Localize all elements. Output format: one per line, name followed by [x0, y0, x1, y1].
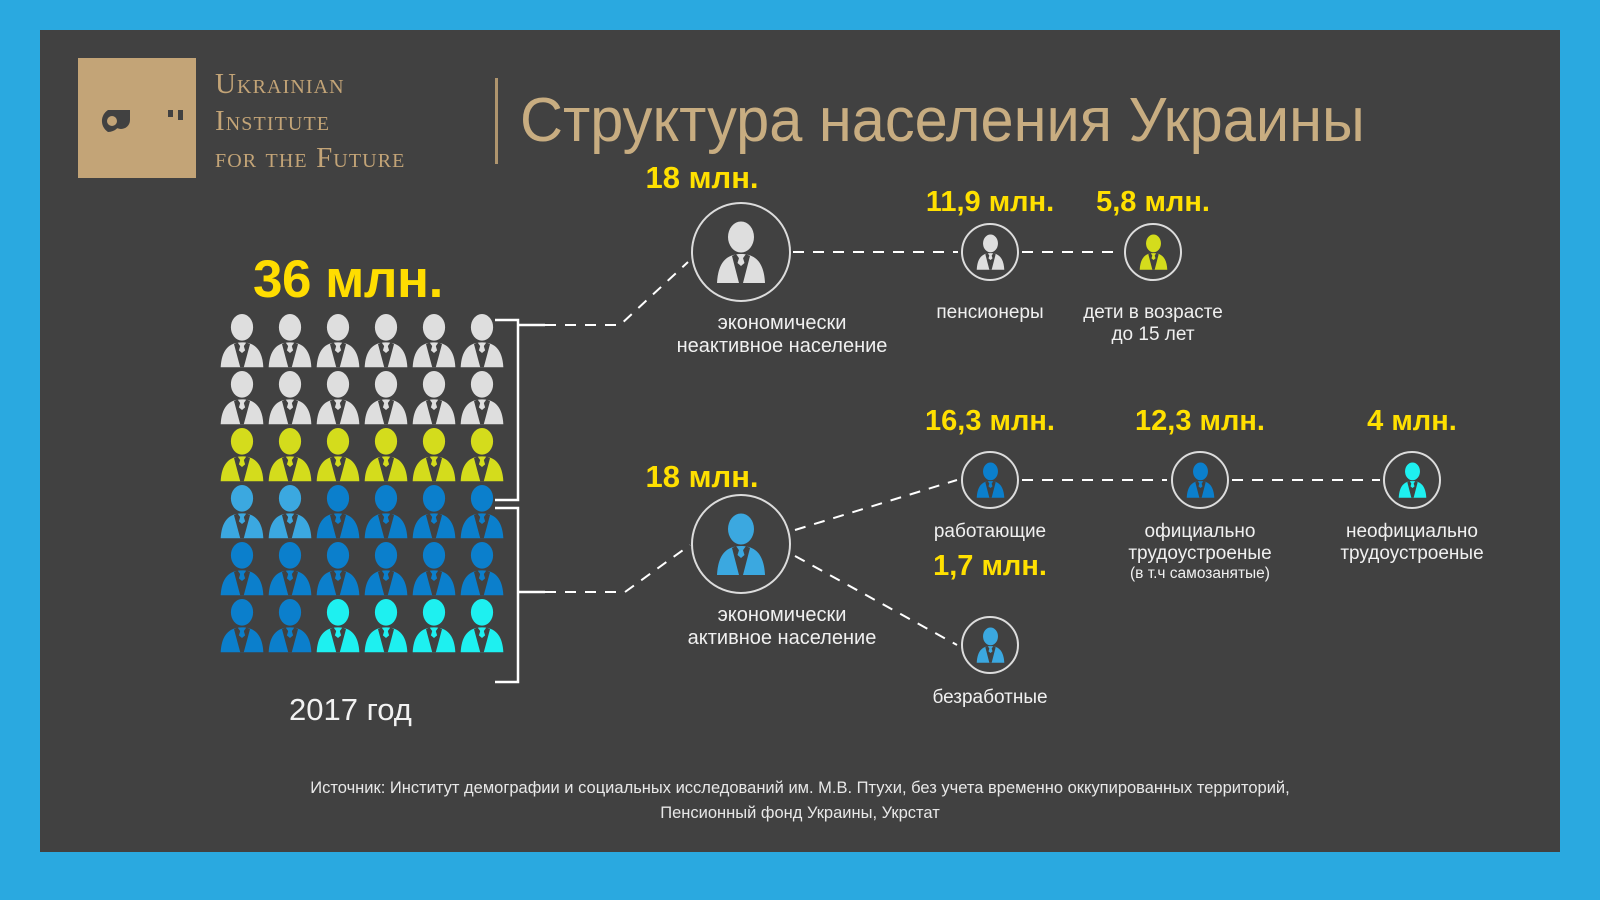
- person-icon: [1397, 462, 1428, 498]
- unemployed-caption-line1: безработные: [900, 687, 1080, 709]
- unemployed-circle: [961, 616, 1019, 674]
- pictogram-person-icon: [362, 370, 410, 427]
- active-caption: экономически активное население: [622, 604, 942, 651]
- working-caption-line1: работающие: [900, 521, 1080, 543]
- pictogram-person-icon: [314, 370, 362, 427]
- pictogram-person-icon: [410, 541, 458, 598]
- logo-line-2: Institute: [215, 103, 405, 140]
- unofficial-caption-line1: неофициально: [1322, 521, 1502, 543]
- pictogram-person-icon: [362, 598, 410, 655]
- pictogram-row: [218, 427, 506, 484]
- source-note: Источник: Институт демографии и социальн…: [40, 776, 1560, 826]
- pictogram-person-icon: [410, 598, 458, 655]
- pictogram-person-icon: [362, 313, 410, 370]
- total-population-value: 36 млн.: [253, 249, 443, 310]
- pensioners-value: 11,9 млн.: [900, 186, 1080, 219]
- pictogram-person-icon: [314, 541, 362, 598]
- pictogram-person-icon: [266, 427, 314, 484]
- year-label: 2017 год: [289, 692, 412, 728]
- node-active[interactable]: [691, 494, 791, 594]
- pictogram-person-icon: [218, 598, 266, 655]
- official-caption: официально трудоустроеные (в т.ч самозан…: [1110, 521, 1290, 584]
- active-circle: [691, 494, 791, 594]
- pictogram-person-icon: [314, 484, 362, 541]
- pictogram-person-icon: [410, 370, 458, 427]
- person-icon: [714, 221, 768, 283]
- pictogram-person-icon: [266, 313, 314, 370]
- official-caption-line1: официально: [1110, 521, 1290, 543]
- node-working[interactable]: [961, 451, 1019, 509]
- children-caption: дети в возрасте до 15 лет: [1063, 302, 1243, 346]
- pictogram-person-icon: [410, 427, 458, 484]
- unemployed-caption: безработные: [900, 687, 1080, 709]
- pictogram-person-icon: [458, 484, 506, 541]
- pictogram-person-icon: [314, 598, 362, 655]
- source-line-1: Источник: Институт демографии и социальн…: [40, 776, 1560, 801]
- children-circle: [1124, 223, 1182, 281]
- inactive-value: 18 млн.: [612, 160, 792, 196]
- pictogram-person-icon: [266, 370, 314, 427]
- inactive-circle: [691, 202, 791, 302]
- title-divider: [495, 78, 498, 164]
- pictogram-person-icon: [266, 598, 314, 655]
- pictogram-row: [218, 598, 506, 655]
- pictogram-person-icon: [266, 484, 314, 541]
- pictogram-row: [218, 313, 506, 370]
- children-caption-line1: дети в возрасте: [1063, 302, 1243, 324]
- person-icon: [1138, 234, 1169, 270]
- population-pictogram: [218, 313, 506, 655]
- pictogram-person-icon: [410, 484, 458, 541]
- official-caption-line2: трудоустроеные: [1110, 543, 1290, 565]
- pictogram-person-icon: [362, 484, 410, 541]
- logo-line-1: Ukrainian: [215, 66, 405, 103]
- page-title: Структура населения Украины: [520, 78, 1365, 164]
- pictogram-person-icon: [218, 541, 266, 598]
- person-icon: [975, 627, 1006, 663]
- person-icon: [975, 462, 1006, 498]
- pensioners-caption: пенсионеры: [900, 302, 1080, 324]
- logo-box: [78, 58, 196, 178]
- pictogram-row: [218, 484, 506, 541]
- pictogram-person-icon: [266, 541, 314, 598]
- official-value: 12,3 млн.: [1110, 405, 1290, 438]
- pictogram-person-icon: [458, 598, 506, 655]
- inactive-caption-line2: неактивное население: [622, 335, 942, 358]
- pensioners-circle: [961, 223, 1019, 281]
- pictogram-person-icon: [218, 313, 266, 370]
- pictogram-row: [218, 370, 506, 427]
- pictogram-person-icon: [362, 427, 410, 484]
- node-official[interactable]: [1171, 451, 1229, 509]
- unofficial-caption: неофициально трудоустроеные: [1322, 521, 1502, 565]
- inactive-caption: экономически неактивное население: [622, 312, 942, 359]
- pictogram-person-icon: [362, 541, 410, 598]
- pictogram-person-icon: [458, 370, 506, 427]
- working-circle: [961, 451, 1019, 509]
- active-caption-line1: экономически: [622, 604, 942, 627]
- children-value: 5,8 млн.: [1063, 186, 1243, 219]
- person-icon: [1185, 462, 1216, 498]
- pictogram-person-icon: [314, 313, 362, 370]
- node-inactive[interactable]: [691, 202, 791, 302]
- working-value: 16,3 млн.: [900, 405, 1080, 438]
- pictogram-person-icon: [218, 484, 266, 541]
- unofficial-caption-line2: трудоустроеные: [1322, 543, 1502, 565]
- official-caption-sub: (в т.ч самозанятые): [1110, 565, 1290, 583]
- logo-line-3: for the Future: [215, 140, 405, 177]
- pictogram-row: [218, 541, 506, 598]
- children-caption-line2: до 15 лет: [1063, 324, 1243, 346]
- pictogram-person-icon: [314, 427, 362, 484]
- node-pensioners[interactable]: [961, 223, 1019, 281]
- logo-wordmark: Ukrainian Institute for the Future: [215, 66, 405, 177]
- key-icon: [78, 58, 196, 178]
- node-unemployed[interactable]: [961, 616, 1019, 674]
- pictogram-person-icon: [458, 427, 506, 484]
- pictogram-person-icon: [410, 313, 458, 370]
- pensioners-caption-line1: пенсионеры: [900, 302, 1080, 324]
- official-circle: [1171, 451, 1229, 509]
- inactive-caption-line1: экономически: [622, 312, 942, 335]
- infographic-root: Ukrainian Institute for the Future Струк…: [0, 0, 1600, 900]
- node-children[interactable]: [1124, 223, 1182, 281]
- source-line-2: Пенсионный фонд Украины, Укрстат: [40, 801, 1560, 826]
- person-icon: [714, 513, 768, 575]
- working-caption: работающие: [900, 521, 1080, 543]
- pictogram-person-icon: [218, 427, 266, 484]
- pictogram-person-icon: [458, 313, 506, 370]
- active-value: 18 млн.: [612, 459, 792, 495]
- node-unofficial[interactable]: [1383, 451, 1441, 509]
- unemployed-value: 1,7 млн.: [900, 550, 1080, 583]
- unofficial-circle: [1383, 451, 1441, 509]
- unofficial-value: 4 млн.: [1322, 405, 1502, 438]
- active-caption-line2: активное население: [622, 627, 942, 650]
- pictogram-person-icon: [218, 370, 266, 427]
- person-icon: [975, 234, 1006, 270]
- pictogram-person-icon: [458, 541, 506, 598]
